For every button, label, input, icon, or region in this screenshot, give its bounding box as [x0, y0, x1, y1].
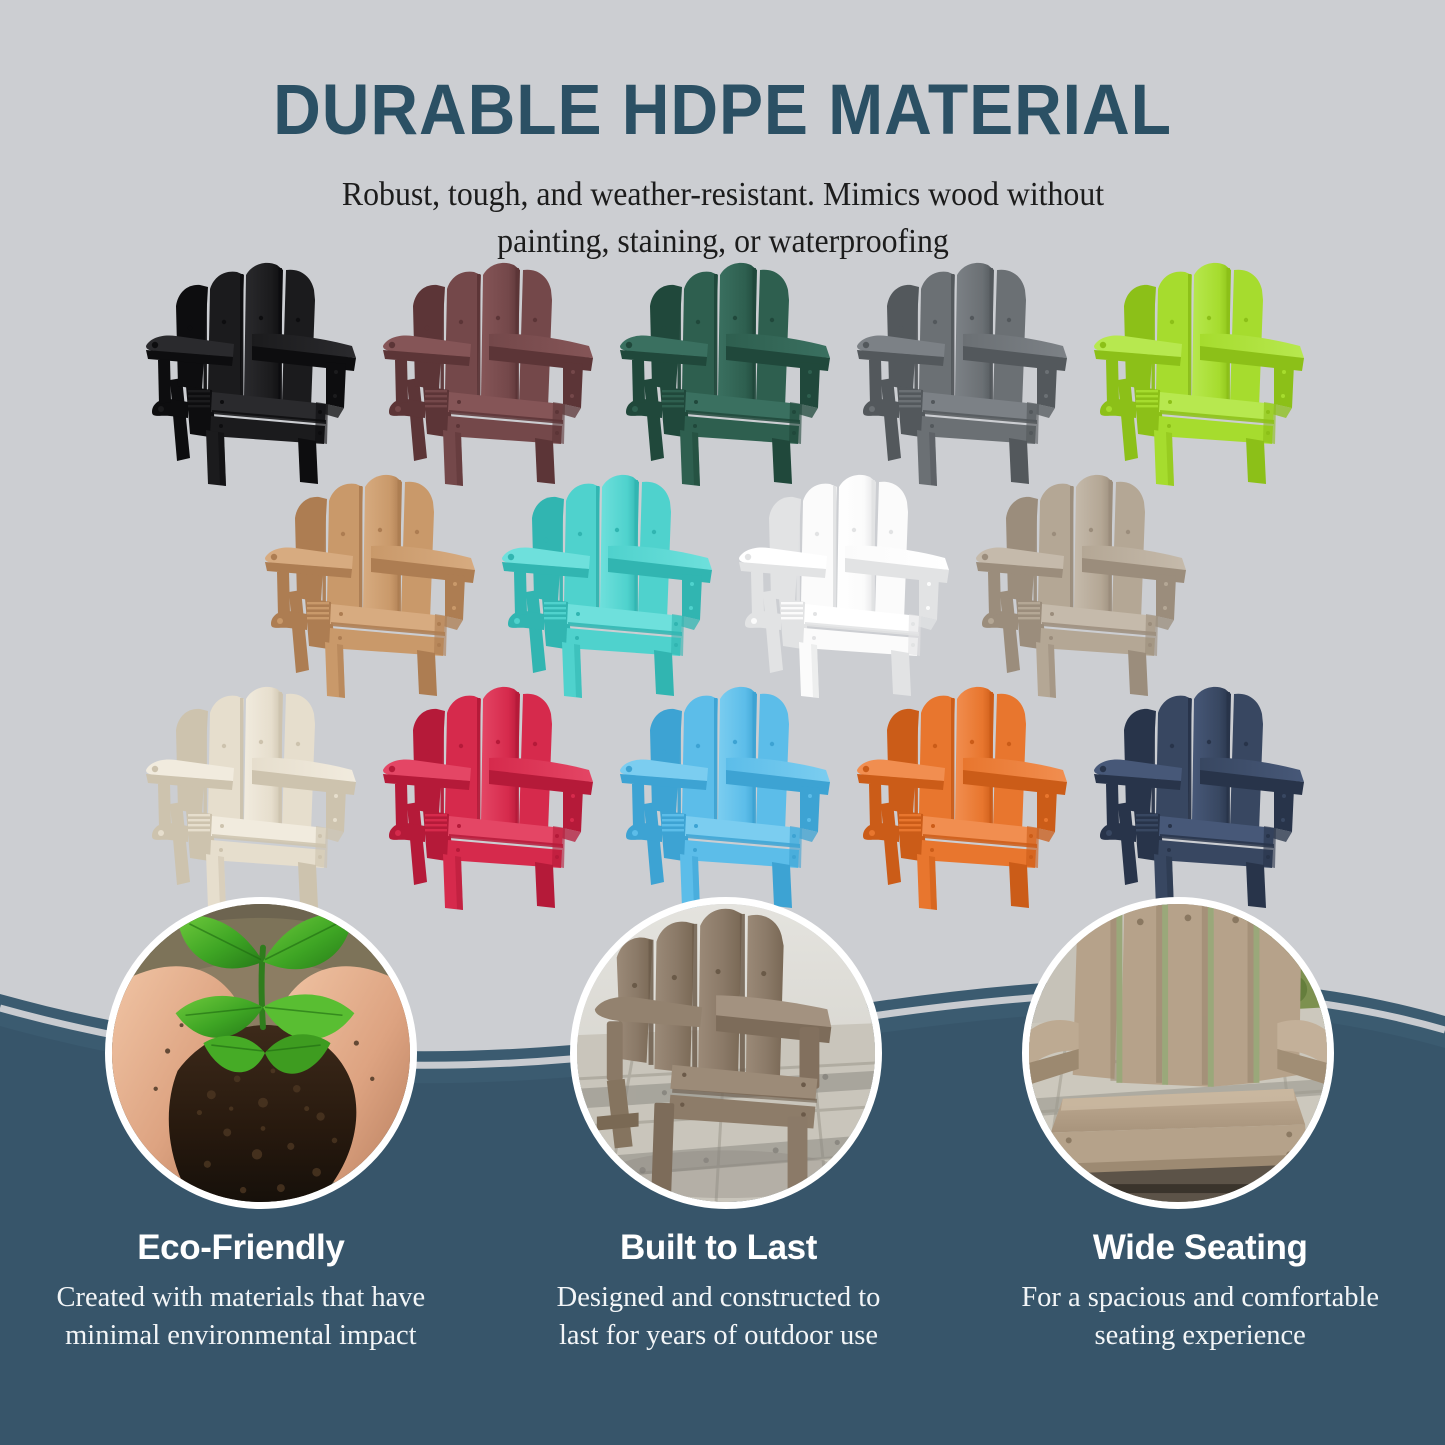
photo-hands-holding-seedling-icon [112, 904, 410, 1202]
adirondack-chair-icon [604, 686, 841, 914]
feature-captions: Eco-Friendly Created with materials that… [0, 1228, 1445, 1354]
adirondack-chair-icon [367, 686, 604, 914]
chair-swatch-gray[interactable] [841, 262, 1078, 490]
adirondack-chair-icon [960, 474, 1197, 702]
feature-desc-eco-friendly: Created with materials that have minimal… [18, 1279, 464, 1354]
feature-desc-wide-seating: For a spacious and comfortable seating e… [977, 1279, 1423, 1354]
feature-built-to-last: Built to Last Designed and constructed t… [482, 1228, 956, 1354]
adirondack-chair-icon [604, 262, 841, 490]
chair-swatch-black[interactable] [130, 262, 367, 490]
chair-swatch-ivory[interactable] [130, 686, 367, 914]
chair-color-grid [0, 262, 1445, 922]
chair-swatch-light-blue[interactable] [604, 686, 841, 914]
header: DURABLE HDPE MATERIAL Robust, tough, and… [0, 0, 1445, 266]
adirondack-chair-icon [486, 474, 723, 702]
subtitle-line-2: painting, staining, or waterproofing [248, 218, 1198, 266]
adirondack-chair-icon [367, 262, 604, 490]
feature-title-eco-friendly: Eco-Friendly [18, 1228, 464, 1268]
feature-desc-line-2: seating experience [977, 1317, 1423, 1355]
feature-desc-line-1: For a spacious and comfortable [977, 1279, 1423, 1317]
adirondack-chair-icon [1078, 686, 1315, 914]
photo-wide-seat-closeup-icon [1029, 904, 1327, 1202]
chair-swatch-turquoise[interactable] [486, 474, 723, 702]
feature-title-built-to-last: Built to Last [496, 1228, 942, 1268]
feature-photo-built-to-last [570, 897, 882, 1209]
infographic-canvas: DURABLE HDPE MATERIAL Robust, tough, and… [0, 0, 1445, 1445]
chair-swatch-tan[interactable] [249, 474, 486, 702]
chair-swatch-weathered-wood[interactable] [960, 474, 1197, 702]
chair-swatch-white[interactable] [723, 474, 960, 702]
adirondack-chair-icon [249, 474, 486, 702]
chair-swatch-red[interactable] [367, 686, 604, 914]
adirondack-chair-icon [723, 474, 960, 702]
subtitle-line-1: Robust, tough, and weather-resistant. Mi… [248, 171, 1198, 219]
feature-eco-friendly: Eco-Friendly Created with materials that… [0, 1228, 482, 1354]
feature-desc-line-1: Designed and constructed to [496, 1279, 942, 1317]
feature-title-wide-seating: Wide Seating [977, 1228, 1423, 1268]
adirondack-chair-icon [1078, 262, 1315, 490]
page-title: DURABLE HDPE MATERIAL [51, 0, 1395, 149]
chair-swatch-navy-blue[interactable] [1078, 686, 1315, 914]
adirondack-chair-icon [130, 686, 367, 914]
chair-swatch-lime-green[interactable] [1078, 262, 1315, 490]
adirondack-chair-icon [841, 262, 1078, 490]
photo-adirondack-chair-on-patio-icon [577, 904, 875, 1202]
chair-row-2 [0, 474, 1445, 702]
page-subtitle: Robust, tough, and weather-resistant. Mi… [248, 149, 1198, 266]
chair-swatch-orange[interactable] [841, 686, 1078, 914]
feature-photo-wide-seating [1022, 897, 1334, 1209]
adirondack-chair-icon [130, 262, 367, 490]
chair-swatch-brown[interactable] [367, 262, 604, 490]
adirondack-chair-icon [841, 686, 1078, 914]
feature-desc-built-to-last: Designed and constructed to last for yea… [496, 1279, 942, 1354]
feature-desc-line-1: Created with materials that have [18, 1279, 464, 1317]
feature-wide-seating: Wide Seating For a spacious and comforta… [955, 1228, 1445, 1354]
chair-swatch-dark-green[interactable] [604, 262, 841, 490]
feature-photo-eco-friendly [105, 897, 417, 1209]
chair-row-3 [0, 686, 1445, 914]
chair-row-1 [0, 262, 1445, 490]
feature-desc-line-2: minimal environmental impact [18, 1317, 464, 1355]
feature-desc-line-2: last for years of outdoor use [496, 1317, 942, 1355]
